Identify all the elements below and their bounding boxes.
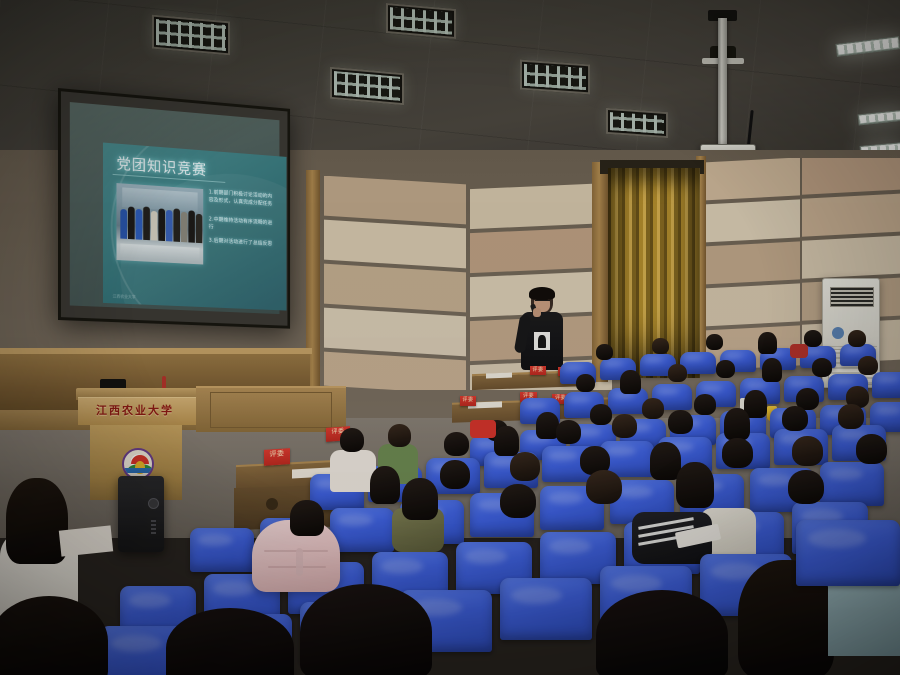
presenter-hair (529, 287, 555, 300)
audience-head (586, 470, 622, 504)
podium-institution-name: 江西农业大学 (76, 402, 194, 418)
audience-head (402, 478, 438, 520)
floor-loudspeaker (118, 476, 164, 552)
audience-head (510, 452, 540, 481)
ceiling-light-panel (606, 108, 668, 138)
paper-sheet (486, 373, 512, 379)
acoustic-panel-wall-left (318, 176, 618, 390)
audience-head (716, 360, 735, 378)
audience-head (858, 356, 878, 375)
audience-head (782, 406, 808, 431)
audience-head (388, 424, 411, 447)
audience-head (788, 470, 824, 504)
audience-head (792, 436, 823, 466)
audience-head (370, 466, 400, 504)
paper-sheet (59, 525, 113, 556)
judge-card-text: 评委 (530, 366, 546, 374)
audience-head (668, 410, 693, 434)
audience-head (290, 500, 324, 536)
foreground-attendee-head (6, 478, 68, 564)
speaker-vent (151, 518, 156, 534)
ceiling-light-panel (152, 15, 230, 56)
red-scarf (470, 420, 496, 438)
sweatshirt-graphic-print (534, 332, 550, 350)
audience-head (838, 404, 864, 429)
audience-head (762, 358, 782, 382)
wainscot-cap (0, 348, 312, 354)
audience-head (676, 462, 714, 508)
audience-head (620, 370, 641, 394)
red-jacket (790, 344, 808, 358)
judge-name-card: 评委 (264, 448, 290, 466)
ceiling-light-panel (330, 67, 404, 105)
audience-head (556, 420, 581, 444)
audience-head (500, 484, 536, 518)
audience-head (596, 344, 613, 360)
auditorium-photo: 党团知识竞赛 (0, 0, 900, 675)
speaker-driver (148, 498, 159, 509)
audience-head (812, 358, 832, 377)
audience-head (576, 374, 595, 392)
audience-head (706, 334, 723, 350)
audience-head (848, 330, 866, 347)
ceiling-light-panel (520, 60, 590, 95)
audience-head (494, 426, 519, 456)
projection-screen: 党团知识竞赛 (58, 88, 290, 329)
foreground-head (596, 590, 728, 675)
judge-card-text: 评委 (264, 448, 290, 460)
judge-card-text: 评委 (460, 396, 476, 404)
audience-head (612, 414, 637, 438)
audience-head (668, 364, 687, 382)
audience-head (340, 428, 364, 452)
audience-head (440, 460, 470, 489)
table-hole (266, 498, 278, 510)
ceiling-light-panel (386, 3, 456, 39)
audience-head (652, 338, 669, 354)
ac-vent-grille (830, 287, 874, 307)
audience-head (444, 432, 469, 456)
judge-name-card: 评委 (530, 366, 546, 375)
audience-head (724, 408, 750, 440)
audience-head (856, 434, 887, 464)
slide-footer: 江西农业大学 (113, 293, 136, 300)
photo-people-row (118, 201, 201, 243)
audience-head (590, 404, 612, 425)
slide-embedded-photo (116, 183, 203, 264)
foreground-head (0, 596, 108, 675)
audience-head (694, 394, 716, 415)
photo-table (120, 243, 199, 262)
audience-head (642, 398, 664, 419)
presenter-hand (533, 308, 541, 317)
projection-screen-surface: 党团知识竞赛 (70, 102, 280, 314)
presentation-slide: 党团知识竞赛 (103, 143, 287, 311)
audience-head (758, 332, 777, 354)
ac-brand-logo (832, 327, 844, 339)
audience-head (722, 438, 753, 468)
seat-cover (796, 520, 900, 586)
glasses-icon (535, 300, 550, 303)
projector-pole (718, 18, 727, 148)
wall-cabinet-panel (210, 392, 332, 428)
foreground-head (300, 584, 432, 675)
judge-name-card: 评委 (460, 396, 476, 406)
